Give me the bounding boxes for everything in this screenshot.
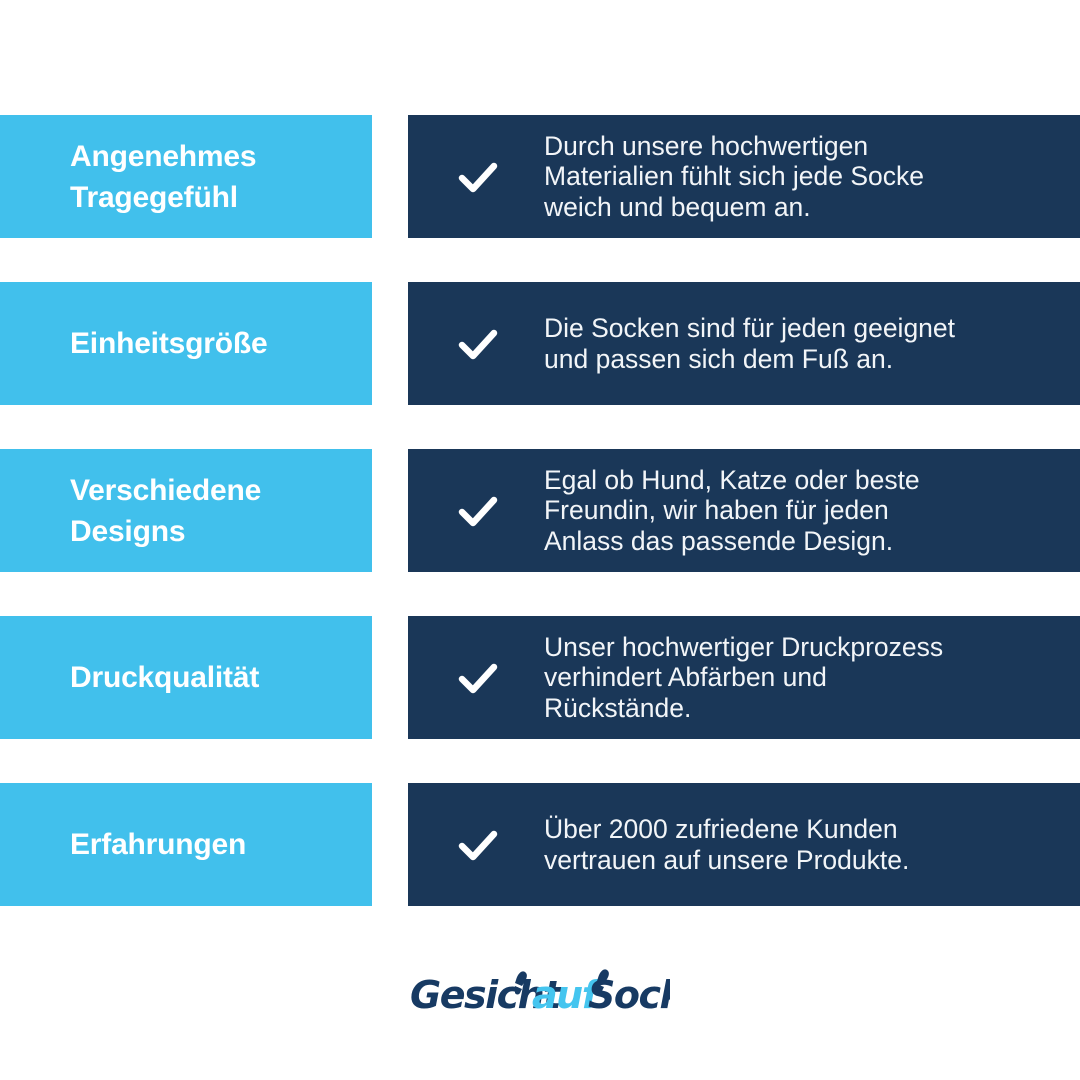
check-icon	[454, 487, 502, 535]
benefit-description-panel: Über 2000 zufriedene Kunden vertrauen au…	[408, 783, 1080, 906]
benefit-row: Einheitsgröße Die Socken sind für jeden …	[0, 282, 1080, 405]
benefit-label-panel: Verschiedene Designs	[0, 449, 372, 572]
benefit-description: Unser hochwertiger Druckprozess verhinde…	[544, 632, 943, 724]
benefit-label-panel: Einheitsgröße	[0, 282, 372, 405]
benefit-description: Durch unsere hochwertigen Materialien fü…	[544, 131, 924, 223]
benefit-description: Über 2000 zufriedene Kunden vertrauen au…	[544, 814, 909, 875]
benefit-label: Erfahrungen	[70, 824, 246, 865]
benefit-description-panel: Die Socken sind für jeden geeignet und p…	[408, 282, 1080, 405]
benefit-label: Druckqualität	[70, 657, 259, 698]
row-gap	[372, 115, 408, 238]
benefit-description-panel: Unser hochwertiger Druckprozess verhinde…	[408, 616, 1080, 739]
benefit-row: Angenehmes Tragegefühl Durch unsere hoch…	[0, 115, 1080, 238]
benefit-description-panel: Egal ob Hund, Katze oder beste Freundin,…	[408, 449, 1080, 572]
benefit-label: Angenehmes Tragegefühl	[70, 136, 256, 218]
benefit-label-panel: Druckqualität	[0, 616, 372, 739]
benefit-description: Die Socken sind für jeden geeignet und p…	[544, 313, 955, 374]
benefit-description-panel: Durch unsere hochwertigen Materialien fü…	[408, 115, 1080, 238]
row-gap	[372, 616, 408, 739]
check-icon	[454, 654, 502, 702]
benefits-list: Angenehmes Tragegefühl Durch unsere hoch…	[0, 115, 1080, 950]
row-gap	[372, 282, 408, 405]
check-icon	[454, 153, 502, 201]
benefit-description: Egal ob Hund, Katze oder beste Freundin,…	[544, 465, 920, 557]
check-icon	[454, 821, 502, 869]
benefit-label: Verschiedene Designs	[70, 470, 261, 552]
benefit-row: Erfahrungen Über 2000 zufriedene Kunden …	[0, 783, 1080, 906]
check-icon	[454, 320, 502, 368]
row-gap	[372, 449, 408, 572]
row-gap	[372, 783, 408, 906]
brand-logo: Gesicht auf Socken	[0, 958, 1080, 1030]
benefit-label-panel: Angenehmes Tragegefühl	[0, 115, 372, 238]
benefit-label-panel: Erfahrungen	[0, 783, 372, 906]
brand-logo-mark: Gesicht auf Socken	[410, 958, 670, 1030]
benefit-row: Verschiedene Designs Egal ob Hund, Katze…	[0, 449, 1080, 572]
benefit-row: Druckqualität Unser hochwertiger Druckpr…	[0, 616, 1080, 739]
benefit-label: Einheitsgröße	[70, 323, 267, 364]
